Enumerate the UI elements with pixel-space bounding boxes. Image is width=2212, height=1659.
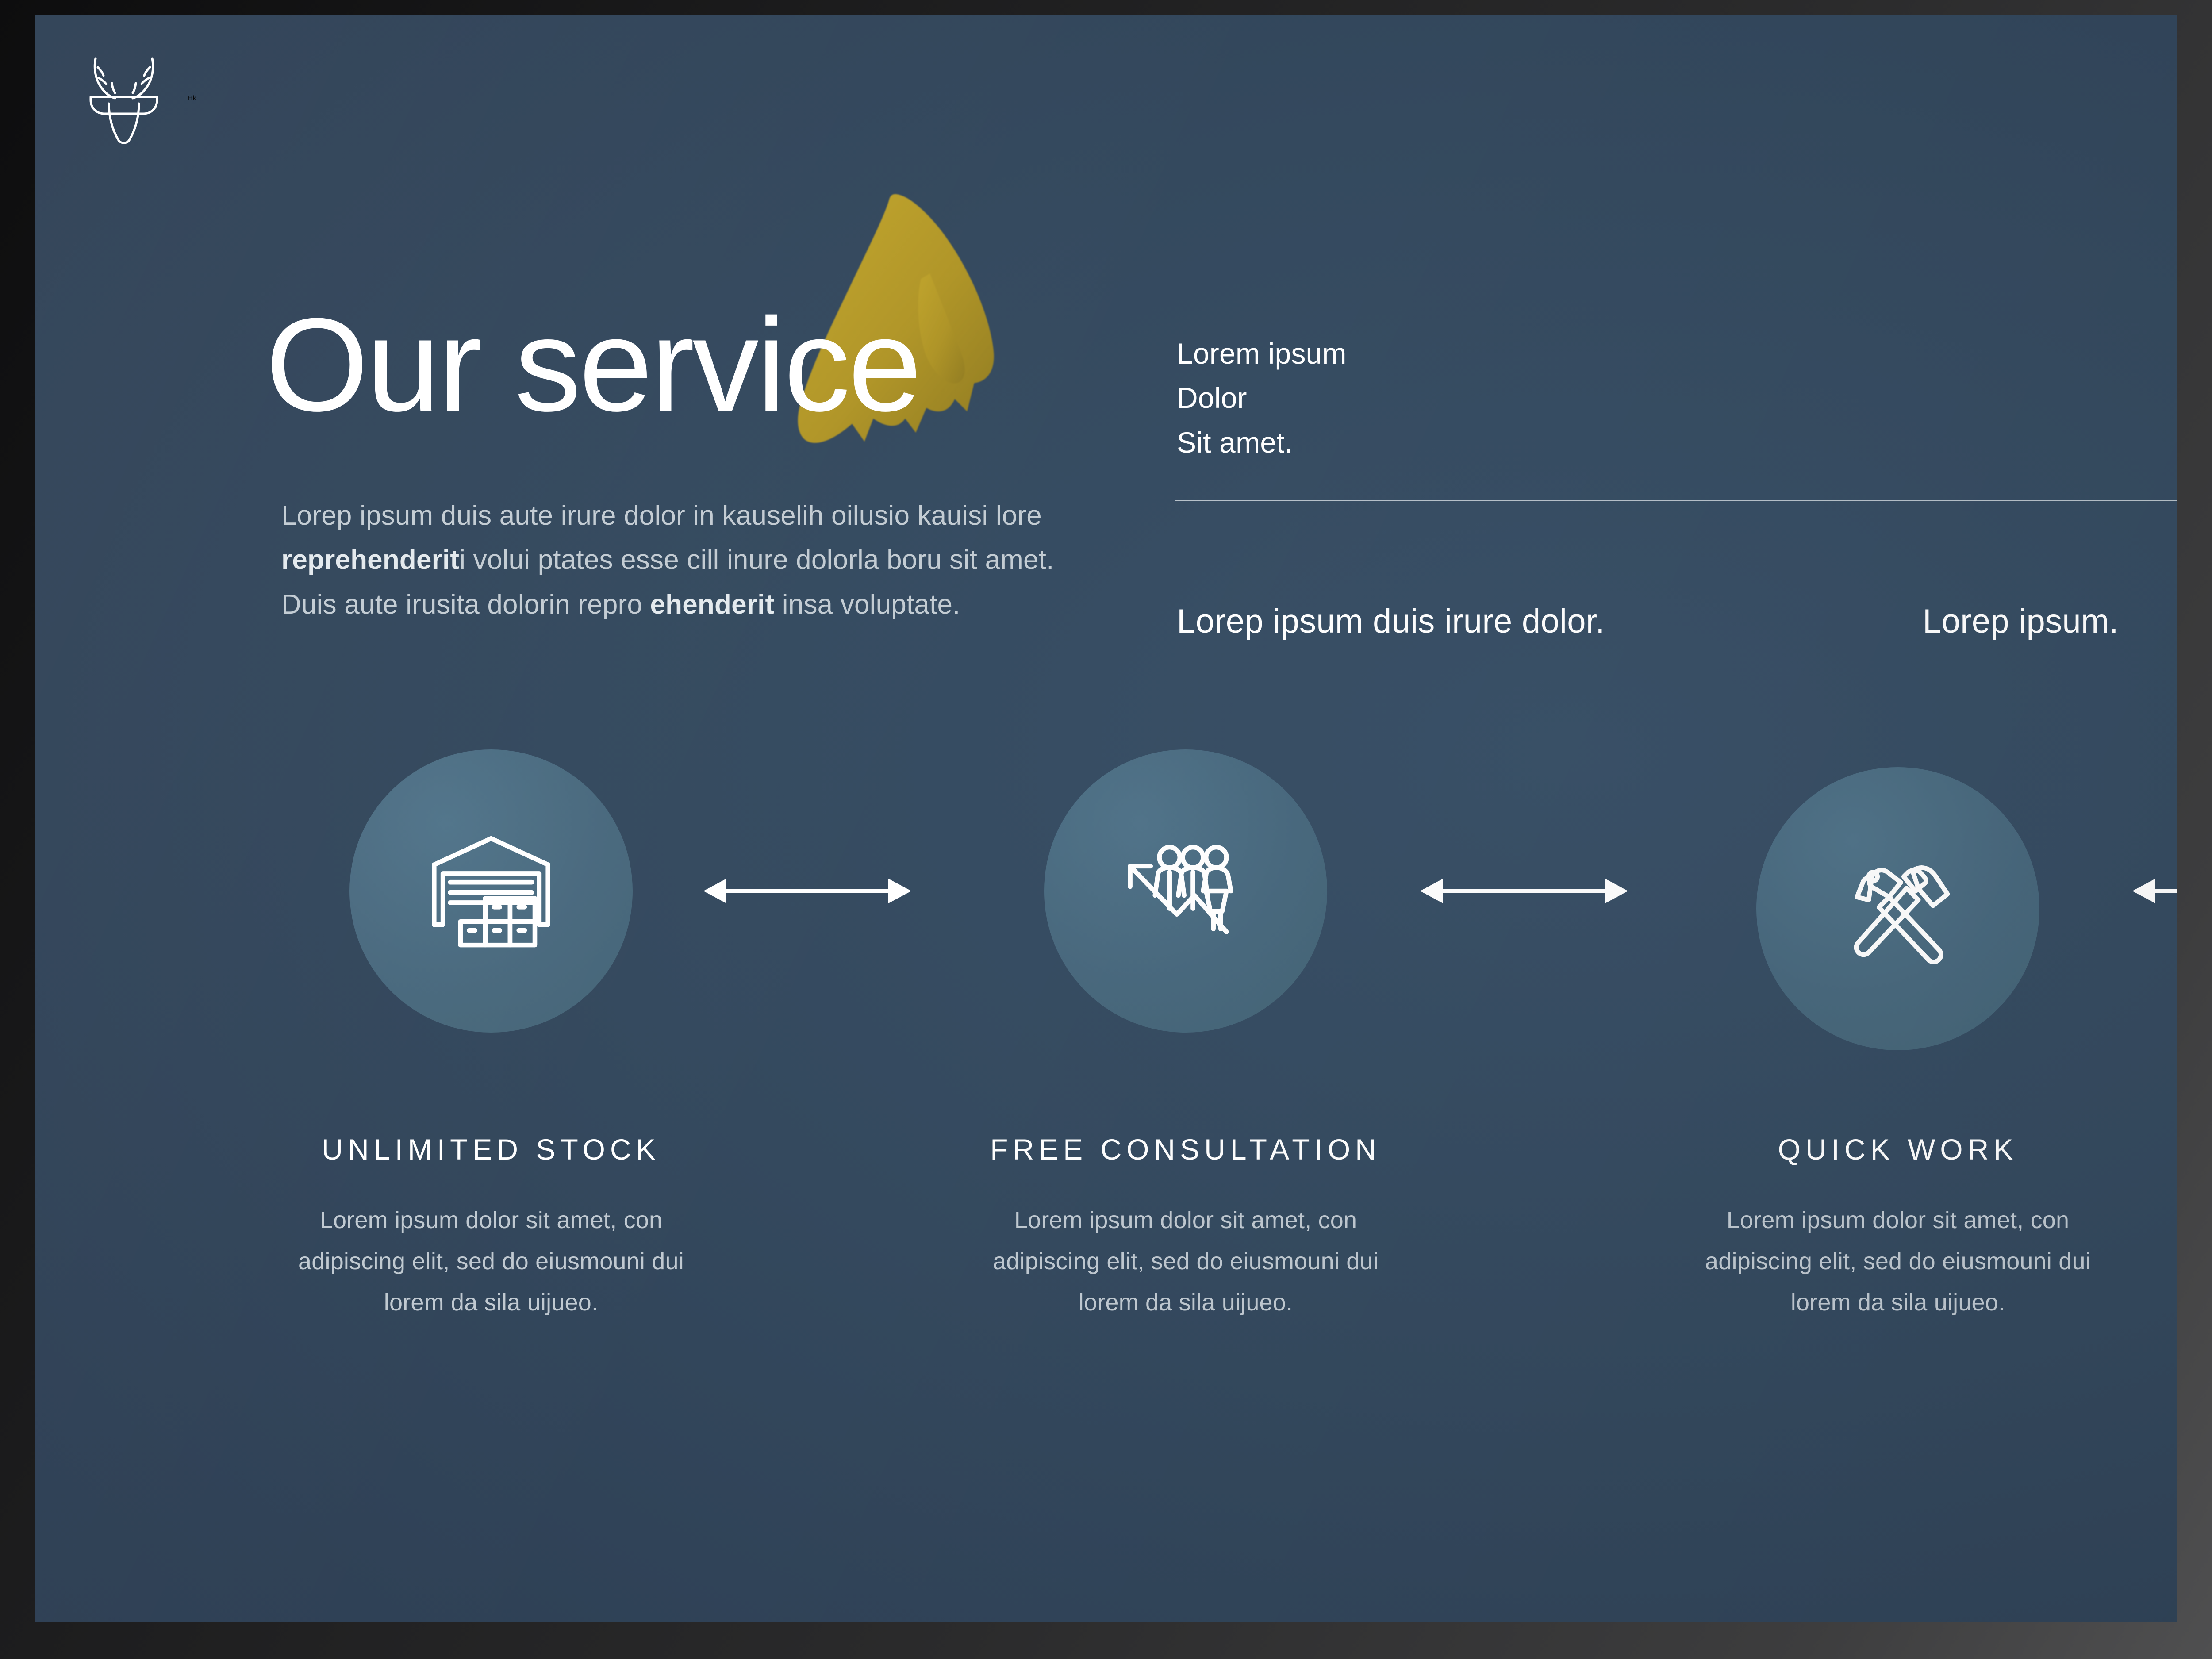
hero-paragraph: Lorep ipsum duis aute irure dolor in kau… [281,494,1078,627]
feature-description: Lorem ipsum dolor sit amet, con adipisci… [190,1200,792,1323]
feature-card-free-consultation[interactable]: FREE CONSULTATION Lorem ipsum dolor sit … [885,749,1486,1323]
hero-title-block: Our service [261,263,1190,453]
slide-canvas: Hk Template Modern Design Our service [35,15,2177,1622]
feature-description: Lorem ipsum dolor sit amet, con adipisci… [1597,1200,2177,1323]
horizontal-divider [1175,500,2177,501]
hero-para-line3: Duis aute irusita dolorin repro [281,589,650,620]
hero-para-bold2: ehenderit [650,589,774,620]
subhead-line-2: Dolor [1177,376,1347,420]
feature-title: UNLIMITED STOCK [190,1133,792,1166]
crossed-hammers-icon [1825,836,1971,982]
feature-icon-circle [1044,749,1327,1033]
double-arrow-icon [2132,871,2177,911]
people-growth-chart-icon [1113,818,1259,964]
warehouse-icon [418,818,564,964]
slide-header: Hk Template Modern Design [35,15,2177,201]
presentation-frame: Hk Template Modern Design Our service [0,0,2212,1659]
brand-name: Hk [188,95,196,103]
feature-row: UNLIMITED STOCK Lorem ipsum dolor sit am… [35,749,2177,1466]
feature-title: FREE CONSULTATION [885,1133,1486,1166]
hero-para-line1: Lorep ipsum duis aute irure dolor in kau… [281,500,1042,531]
page-title: Our service [265,298,920,431]
subhead-block: Lorem ipsum Dolor Sit amet. [1177,331,1347,465]
double-arrow-icon [703,871,911,911]
hero-para-bold1: reprehenderit [281,545,459,575]
feature-icon-circle [349,749,633,1033]
feature-icon-circle [1756,767,2039,1050]
feature-title: QUICK WORK [1597,1133,2177,1166]
hero-para-line2: i volui ptates esse cill inure dolorla b… [459,545,1054,575]
connector-arrow-3 [2132,871,2177,911]
deer-head-icon [80,50,168,147]
subrow-item-a: Lorep ipsum duis irure dolor. [1177,602,1605,641]
subrow-item-b: Lorep ipsum. [1923,602,2119,641]
brand-logo-group[interactable]: Hk [80,50,196,147]
hero-para-line4: insa voluptate. [774,589,960,620]
feature-card-quick-work[interactable]: QUICK WORK Lorem ipsum dolor sit amet, c… [1597,749,2177,1323]
feature-card-unlimited-stock[interactable]: UNLIMITED STOCK Lorem ipsum dolor sit am… [190,749,792,1323]
subhead-line-3: Sit amet. [1177,420,1347,465]
connector-arrow-1 [703,871,911,911]
feature-description: Lorem ipsum dolor sit amet, con adipisci… [885,1200,1486,1323]
connector-arrow-2 [1420,871,1628,911]
double-arrow-icon [1420,871,1628,911]
subhead-line-1: Lorem ipsum [1177,331,1347,376]
